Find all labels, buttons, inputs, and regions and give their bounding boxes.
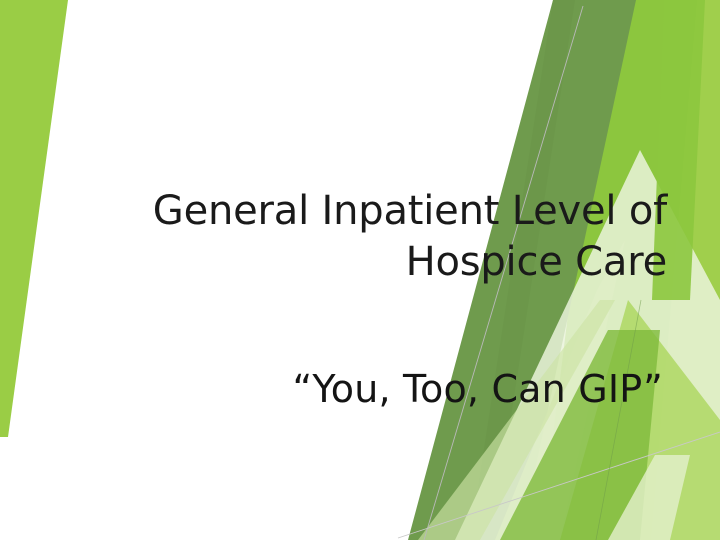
slide-subtitle: “You, Too, Can GIP” <box>60 367 663 413</box>
subtitle-block: “You, Too, Can GIP” <box>60 367 663 413</box>
title-block: General Inpatient Level of Hospice Care <box>60 186 667 288</box>
title-slide: General Inpatient Level of Hospice Care … <box>0 0 720 540</box>
slide-text-layer: General Inpatient Level of Hospice Care … <box>0 0 720 540</box>
slide-title: General Inpatient Level of Hospice Care <box>60 186 667 288</box>
